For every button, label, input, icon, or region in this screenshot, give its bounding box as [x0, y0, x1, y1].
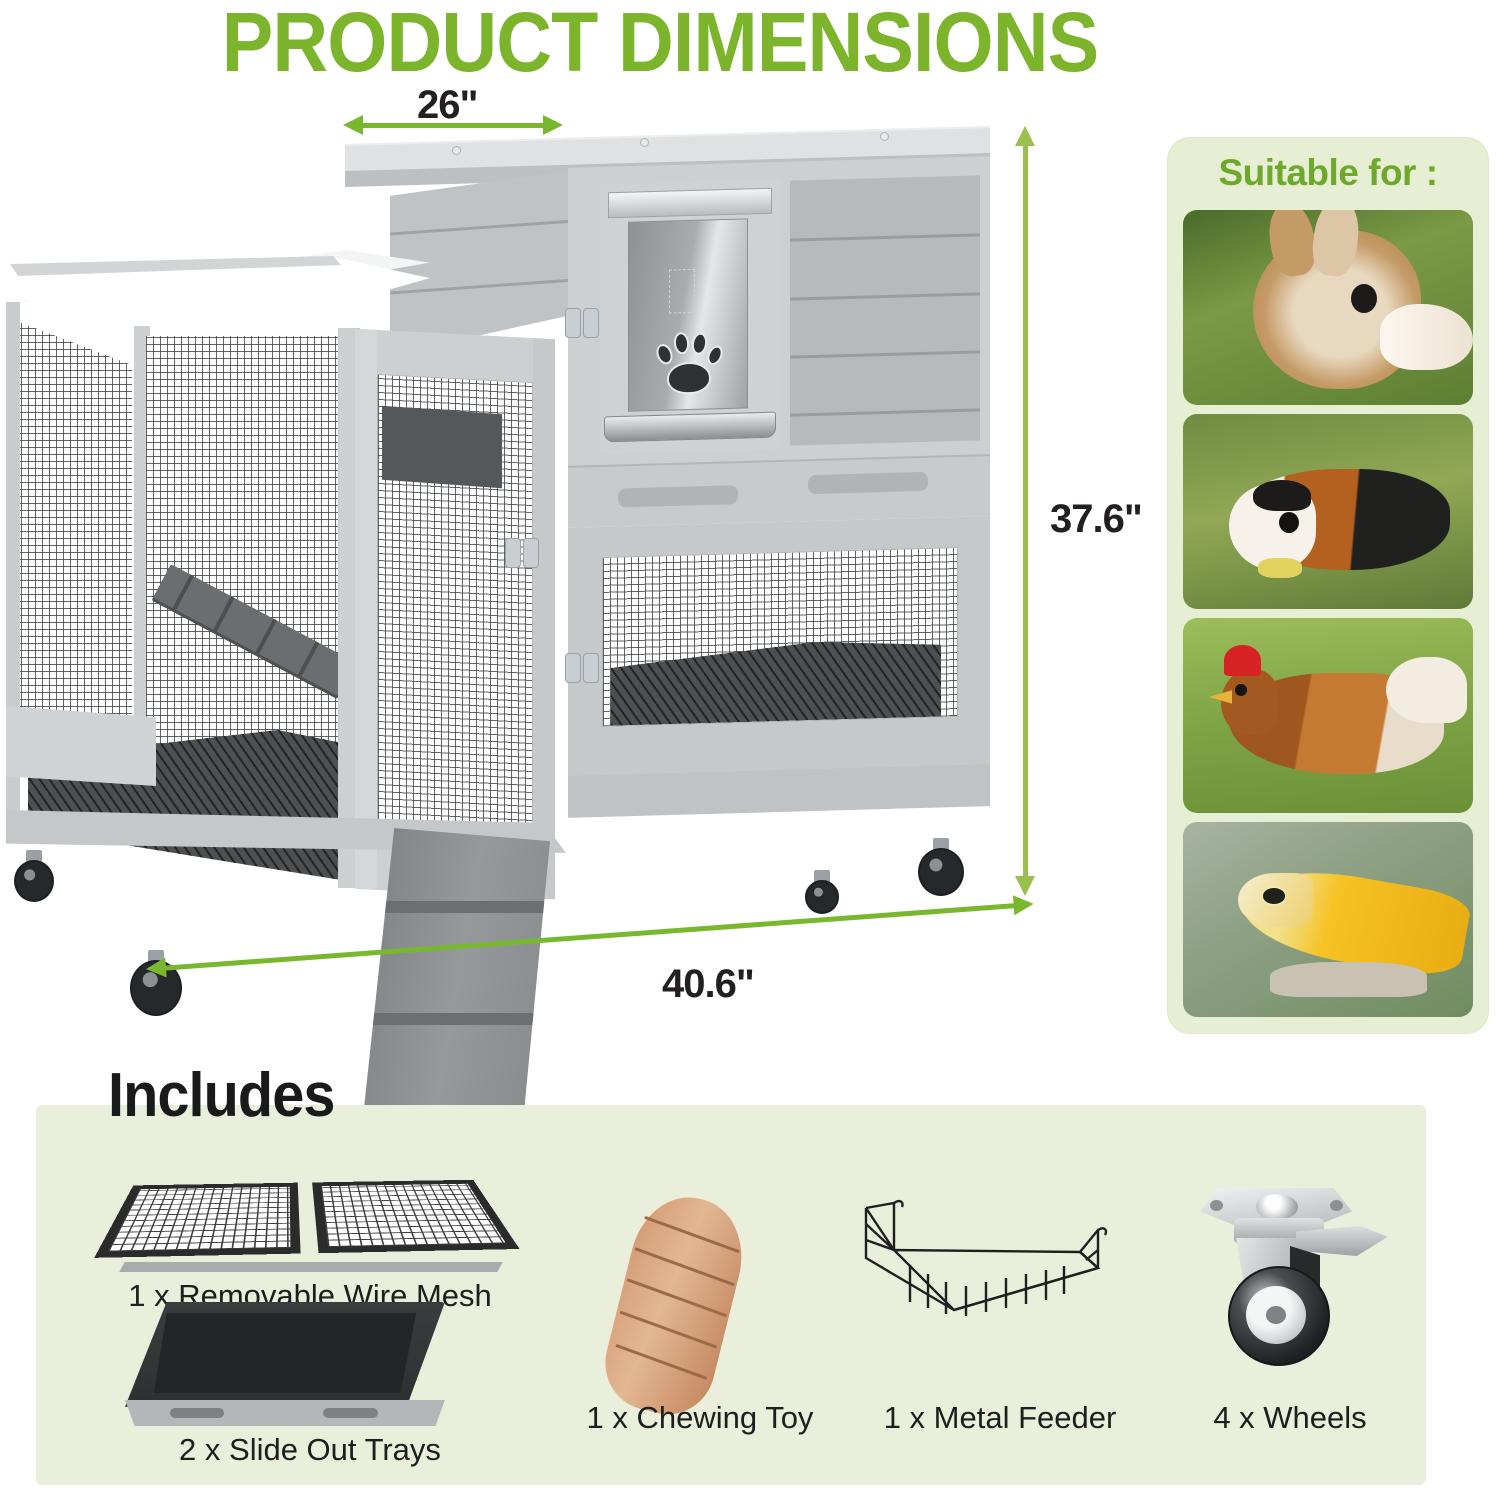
lower-mesh-floor: [611, 638, 941, 725]
tray-handle-left[interactable]: [618, 485, 738, 507]
slide-tray-icon: [125, 1302, 445, 1424]
screw: [640, 138, 649, 147]
wire-mesh-base-edge: [119, 1262, 502, 1272]
dimension-arrow-height: [1020, 126, 1030, 896]
wire-mesh-icon: [94, 1180, 519, 1258]
includes-label-3: 1 x Metal Feeder: [840, 1400, 1160, 1436]
pet-photo-guinea-pig: [1183, 414, 1473, 609]
product-illustration: [0, 110, 1030, 1070]
dimension-label-height: 37.6": [1050, 497, 1142, 542]
feeder-panel: [628, 218, 748, 411]
run-base-board-left: [6, 706, 156, 786]
hinge-lower[interactable]: [565, 650, 599, 684]
includes-label-1: 2 x Slide Out Trays: [60, 1432, 560, 1468]
hinge-upper[interactable]: [565, 305, 599, 339]
metal-feeder-svg: [858, 1190, 1148, 1360]
tray-handle-slot-right: [323, 1408, 377, 1418]
pet-photo-chicken: [1183, 618, 1473, 813]
includes-title: Includes: [108, 1060, 334, 1131]
pet-photo-leopard-gecko: [1183, 822, 1473, 1017]
includes-label-2: 1 x Chewing Toy: [540, 1400, 860, 1436]
caster-wheel-rear-left: [14, 850, 54, 902]
lower-right-enclosure: [568, 516, 990, 788]
upper-right-slat-wall: [790, 175, 980, 445]
infographic-page: PRODUCT DIMENSIONS: [0, 0, 1499, 1500]
feeder-door-frame[interactable]: [600, 179, 780, 454]
lower-mesh-window: [602, 547, 958, 727]
feeder-bowl: [604, 412, 776, 443]
feeder-top-flap: [608, 188, 772, 219]
suitable-for-panel: Suitable for :: [1168, 138, 1488, 1033]
page-title: PRODUCT DIMENSIONS: [200, 0, 1120, 91]
caster-wheel-rear-right: [918, 838, 964, 896]
dimension-label-depth: 40.6": [662, 962, 754, 1007]
screw: [880, 132, 889, 141]
feeder-latch-slot: [669, 269, 695, 314]
suitable-pet-list: [1183, 210, 1473, 1017]
tray-handle-right[interactable]: [808, 472, 928, 494]
tray-handle-slot-left: [170, 1408, 224, 1418]
screw: [452, 146, 461, 155]
slide-out-tray-drawer[interactable]: [568, 454, 990, 528]
dimension-arrow-width: [343, 120, 563, 130]
paw-print-icon: [653, 328, 725, 396]
suitable-for-title: Suitable for :: [1168, 152, 1488, 194]
metal-feeder-icon: [858, 1190, 1148, 1360]
hinge-run-door[interactable]: [505, 535, 539, 569]
caster-wheel-front-right: [805, 870, 839, 914]
caster-wheel-icon: [1178, 1188, 1398, 1368]
interior-nest-opening: [382, 406, 502, 488]
pet-photo-rabbit: [1183, 210, 1473, 405]
includes-label-4: 4 x Wheels: [1150, 1400, 1430, 1436]
